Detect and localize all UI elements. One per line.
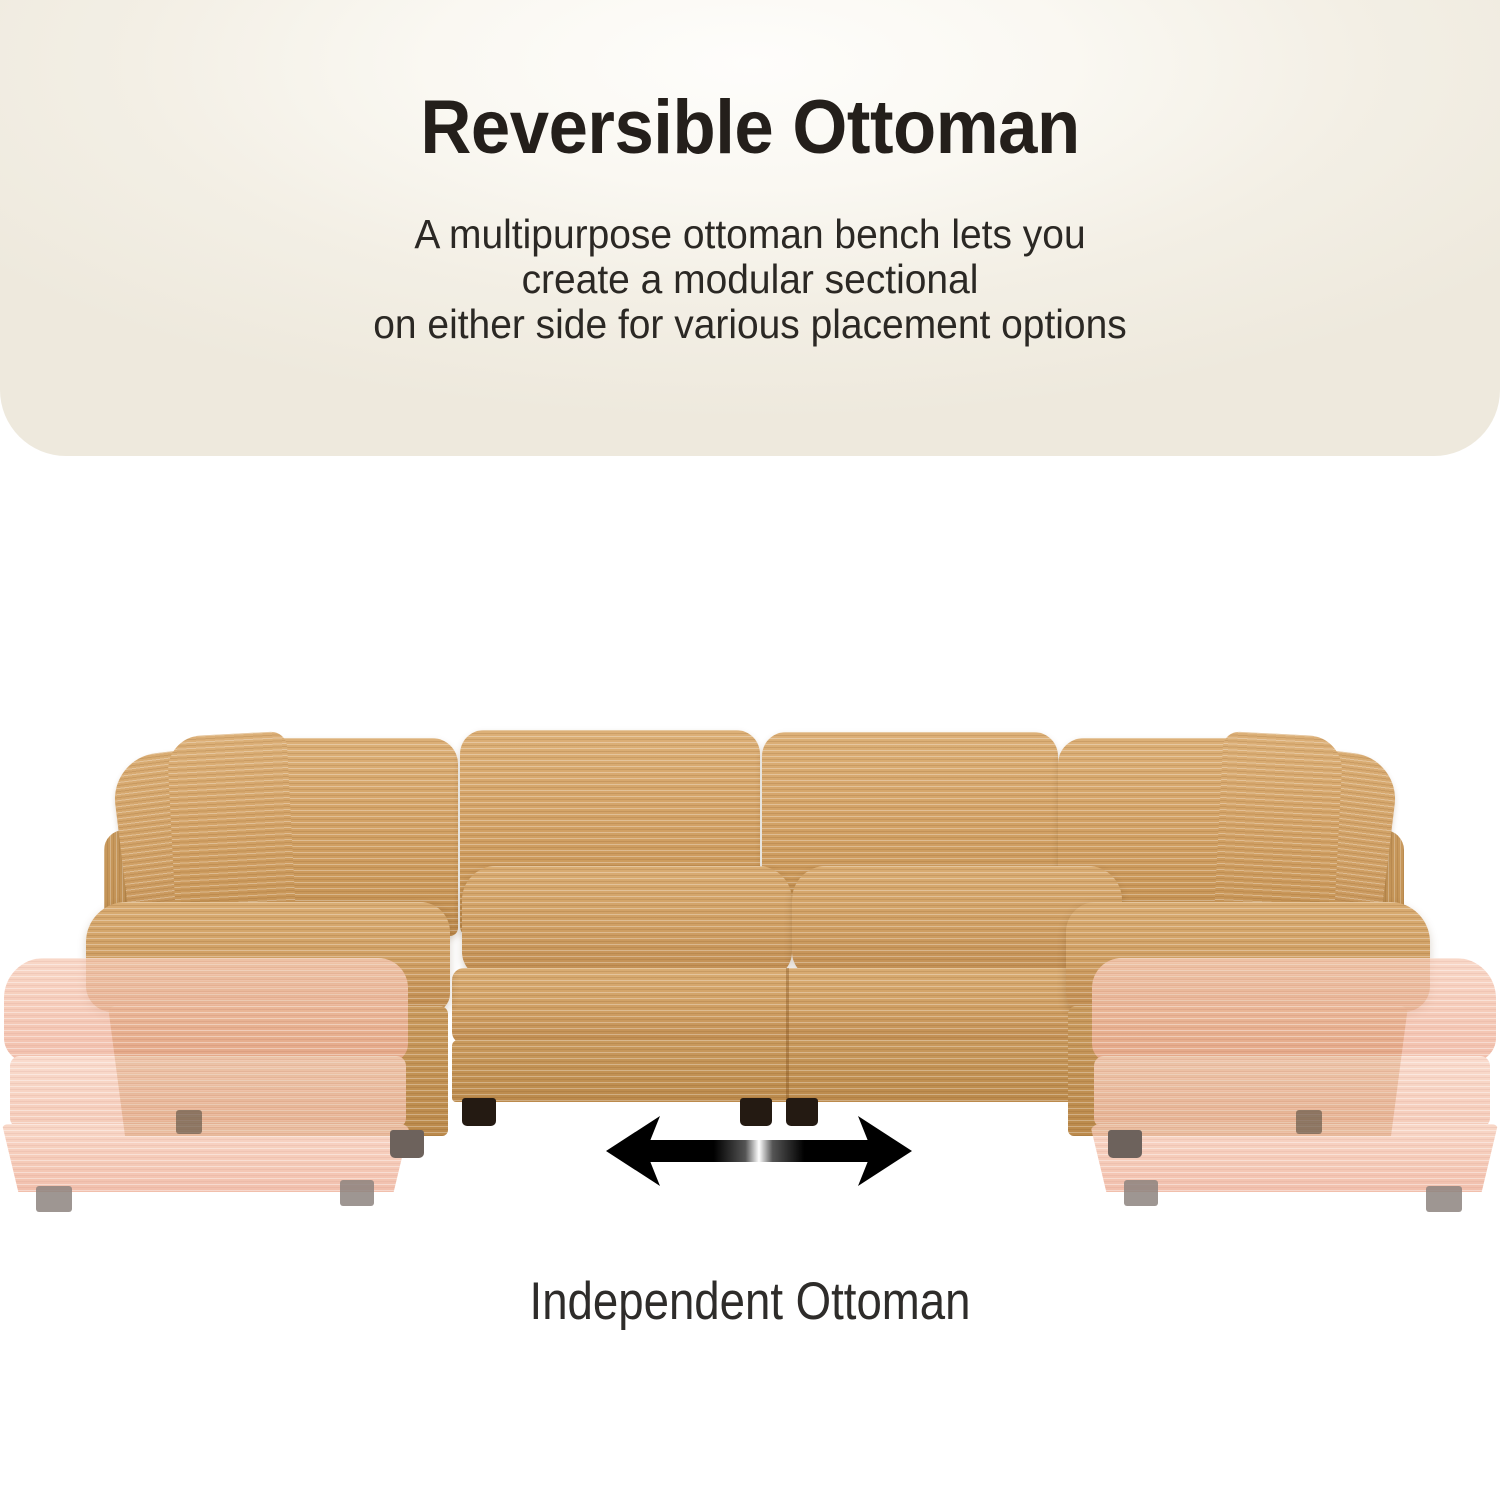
right-ottoman-leg [1108,1130,1142,1158]
double-headed-arrow-icon [598,1104,920,1200]
left-overlay-leg-back [340,1180,374,1206]
left-overlay-cushion [4,958,408,1062]
product-caption: Independent Ottoman [105,1272,1395,1332]
left-ottoman-overlay [0,958,430,1208]
module-seam-center [786,968,789,1102]
left-overlay-leg-mid [176,1110,202,1134]
left-overlay-midrail [10,1056,406,1128]
page-title: Reversible Ottoman [53,86,1448,170]
right-overlay-cushion [1092,958,1496,1062]
center-leg-1 [462,1098,496,1126]
subtitle-line-2: create a modular sectional [38,257,1463,302]
right-overlay-leg-mid [1296,1110,1322,1134]
header-banner: Reversible Ottoman A multipurpose ottoma… [0,0,1500,456]
subtitle-line-3: on either side for various placement opt… [38,302,1463,347]
right-overlay-leg-back [1124,1180,1158,1206]
right-ottoman-overlay [1070,958,1500,1208]
right-overlay-leg-front [1426,1186,1462,1212]
subtitle-line-1: A multipurpose ottoman bench lets you [38,212,1463,257]
banner-subtitle: A multipurpose ottoman bench lets you cr… [38,212,1463,347]
right-overlay-midrail [1094,1056,1490,1128]
left-overlay-leg-front [36,1186,72,1212]
left-ottoman-leg [390,1130,424,1158]
seat-cushion-left [462,866,792,978]
